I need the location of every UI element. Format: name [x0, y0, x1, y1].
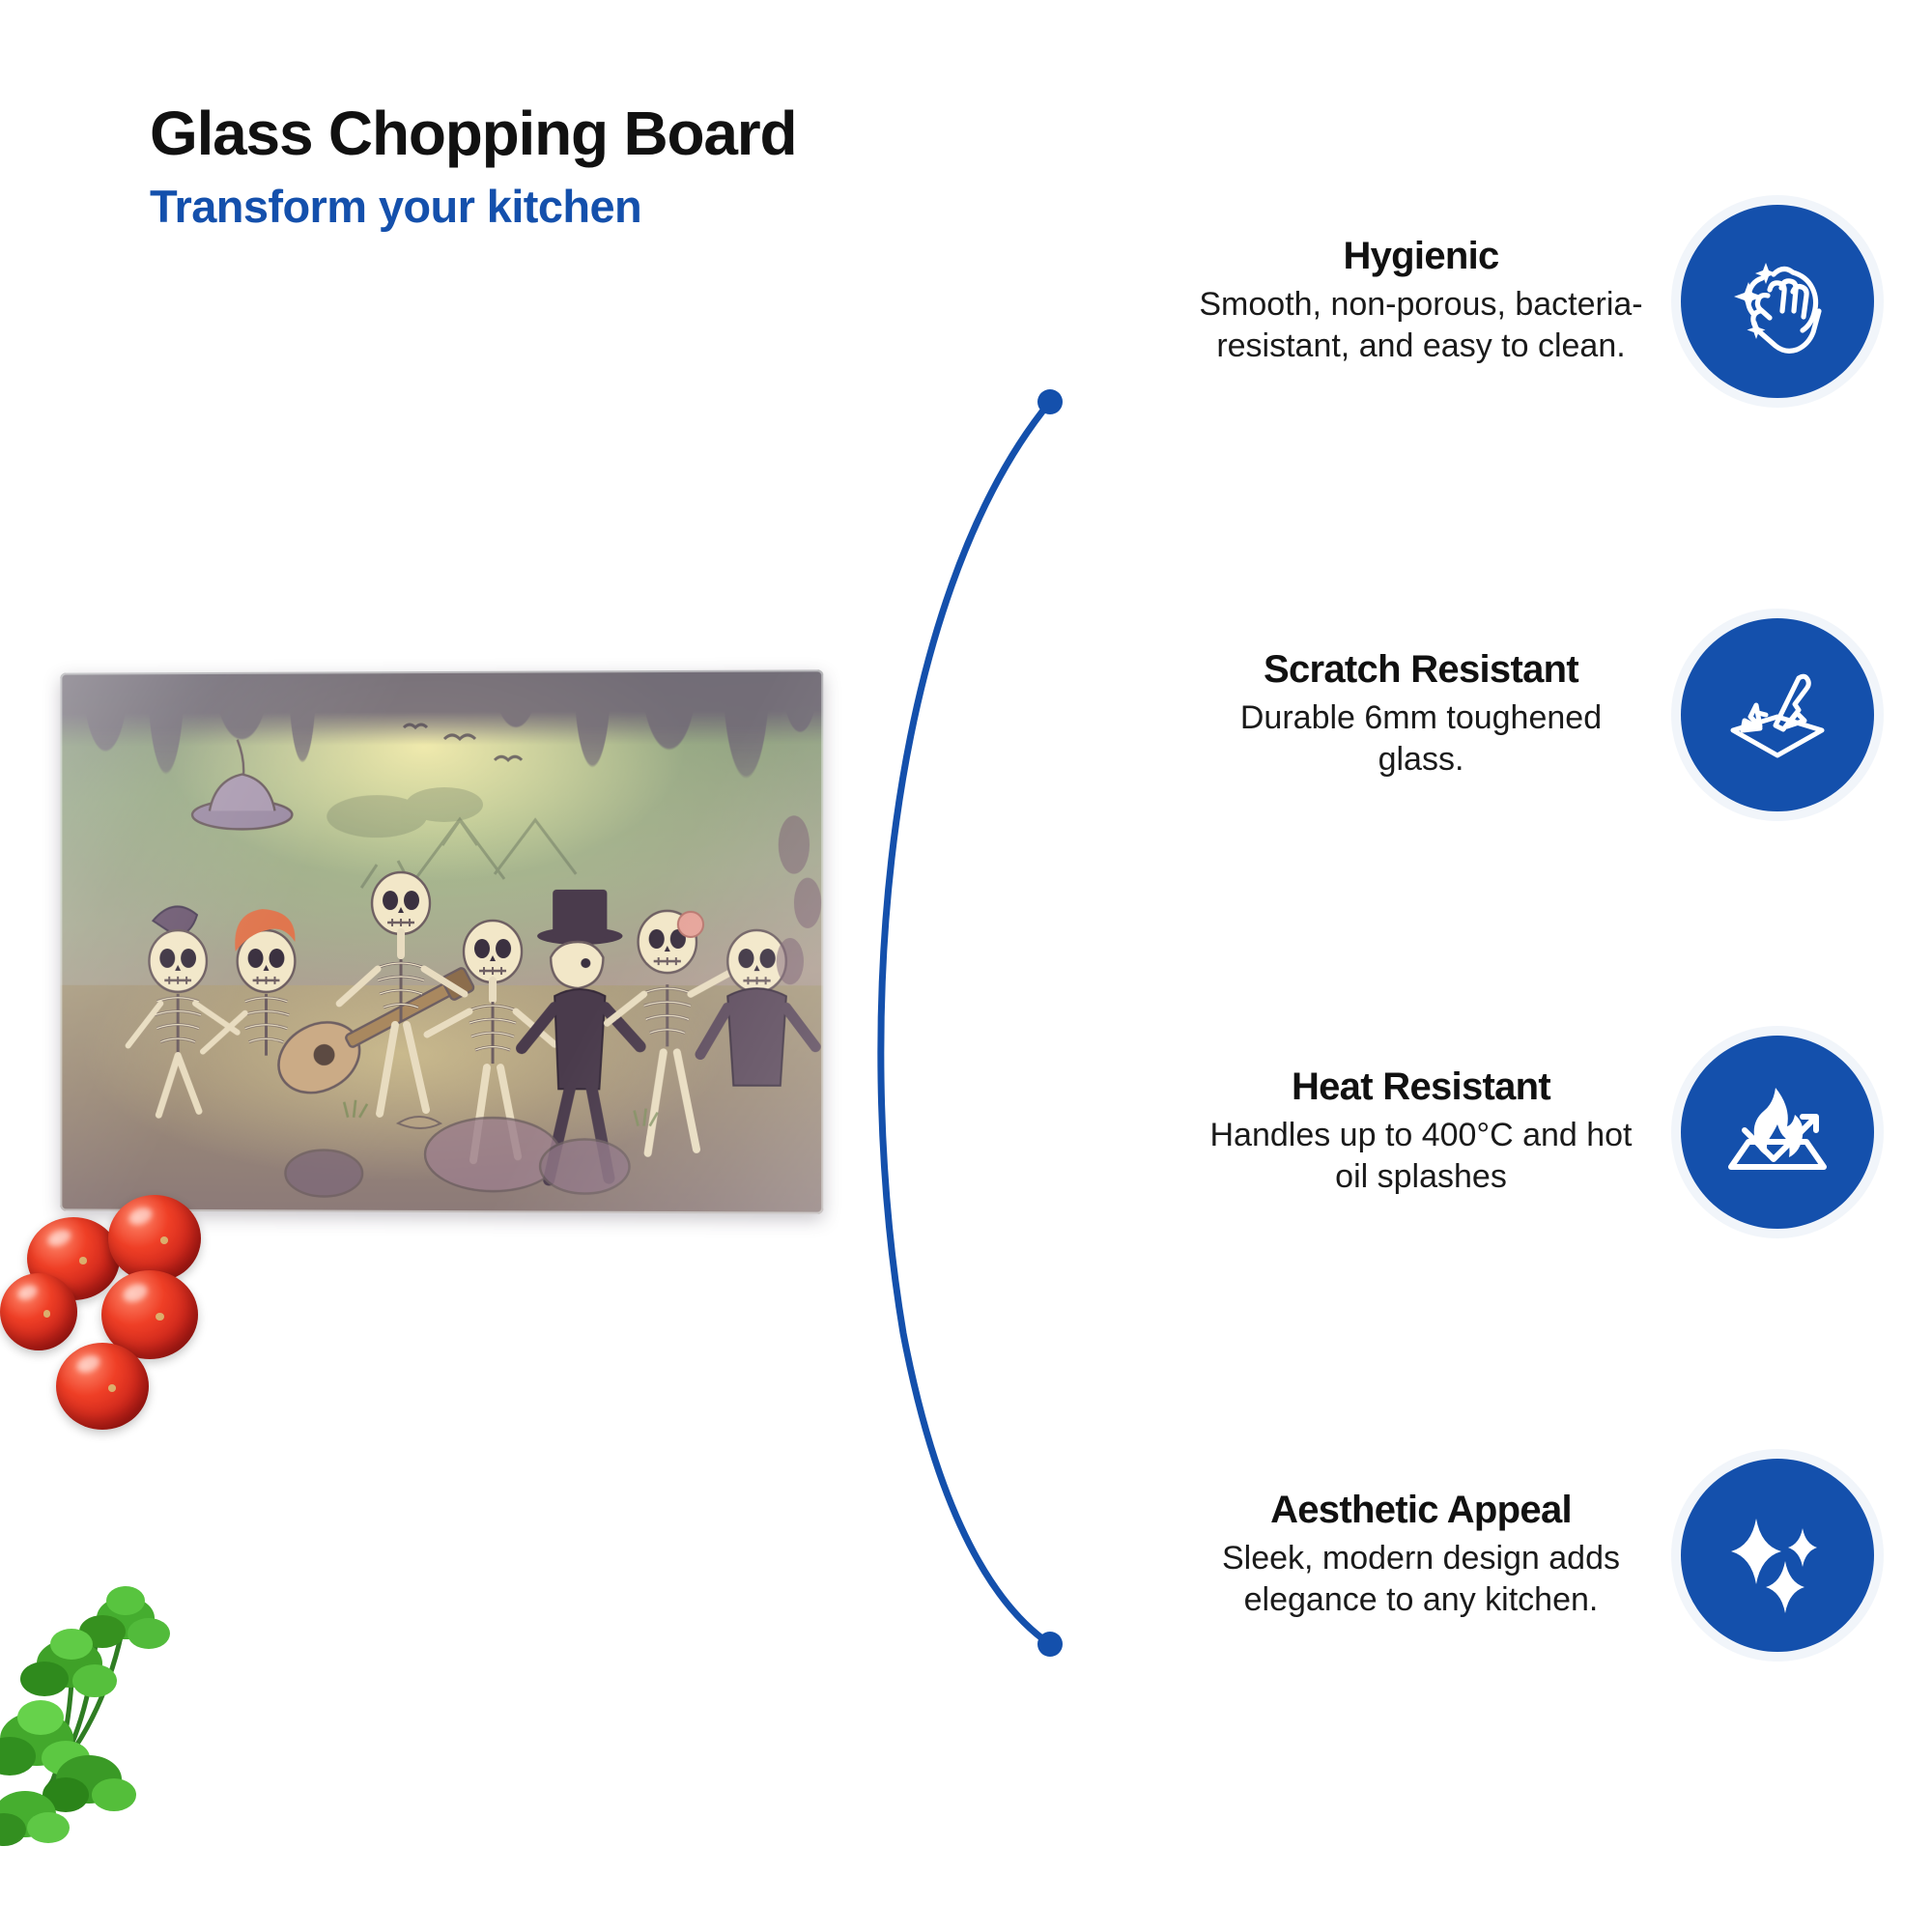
feature-description: Sleek, modern design adds elegance to an…: [1194, 1538, 1648, 1622]
feature-row-scratch-resistant: Scratch Resistant Durable 6mm toughened …: [947, 618, 1874, 811]
cherry-tomato: [108, 1195, 201, 1282]
parsley-garnish: [0, 1575, 270, 1864]
feature-description: Handles up to 400°C and hot oil splashes: [1194, 1115, 1648, 1199]
feature-title: Aesthetic Appeal: [1194, 1489, 1648, 1532]
feature-text-hygienic: Hygienic Smooth, non-porous, bacteria-re…: [1194, 235, 1648, 368]
sparkles-icon: [1681, 1459, 1874, 1652]
feature-title: Hygienic: [1194, 235, 1648, 278]
feature-text-heat-resistant: Heat Resistant Handles up to 400°C and h…: [1194, 1065, 1648, 1199]
feature-title: Scratch Resistant: [1194, 648, 1648, 692]
page-title: Glass Chopping Board: [150, 101, 1116, 166]
feature-row-heat-resistant: Heat Resistant Handles up to 400°C and h…: [947, 1036, 1874, 1229]
flame-glyph: [1716, 1070, 1839, 1194]
hand-wipe-sparkle-icon: [1681, 205, 1874, 398]
product-image: [0, 580, 869, 1275]
feature-row-aesthetic-appeal: Aesthetic Appeal Sleek, modern design ad…: [947, 1459, 1874, 1652]
feature-row-hygienic: Hygienic Smooth, non-porous, bacteria-re…: [947, 205, 1874, 398]
knife-scratch-surface-icon: [1681, 618, 1874, 811]
hanging-hat: [192, 739, 292, 829]
feature-title: Heat Resistant: [1194, 1065, 1648, 1109]
cherry-tomato: [0, 1273, 77, 1350]
feature-description: Smooth, non-porous, bacteria-resistant, …: [1194, 284, 1648, 368]
feature-description: Durable 6mm toughened glass.: [1194, 697, 1648, 781]
chopping-board: [60, 669, 823, 1213]
infographic-canvas: Glass Chopping Board Transform your kitc…: [0, 0, 1932, 1932]
feature-text-aesthetic-appeal: Aesthetic Appeal Sleek, modern design ad…: [1194, 1489, 1648, 1622]
feature-text-scratch-resistant: Scratch Resistant Durable 6mm toughened …: [1194, 648, 1648, 781]
flame-heat-deflect-icon: [1681, 1036, 1874, 1229]
board-artwork-figures: [60, 669, 823, 1213]
cherry-tomato: [56, 1343, 149, 1430]
